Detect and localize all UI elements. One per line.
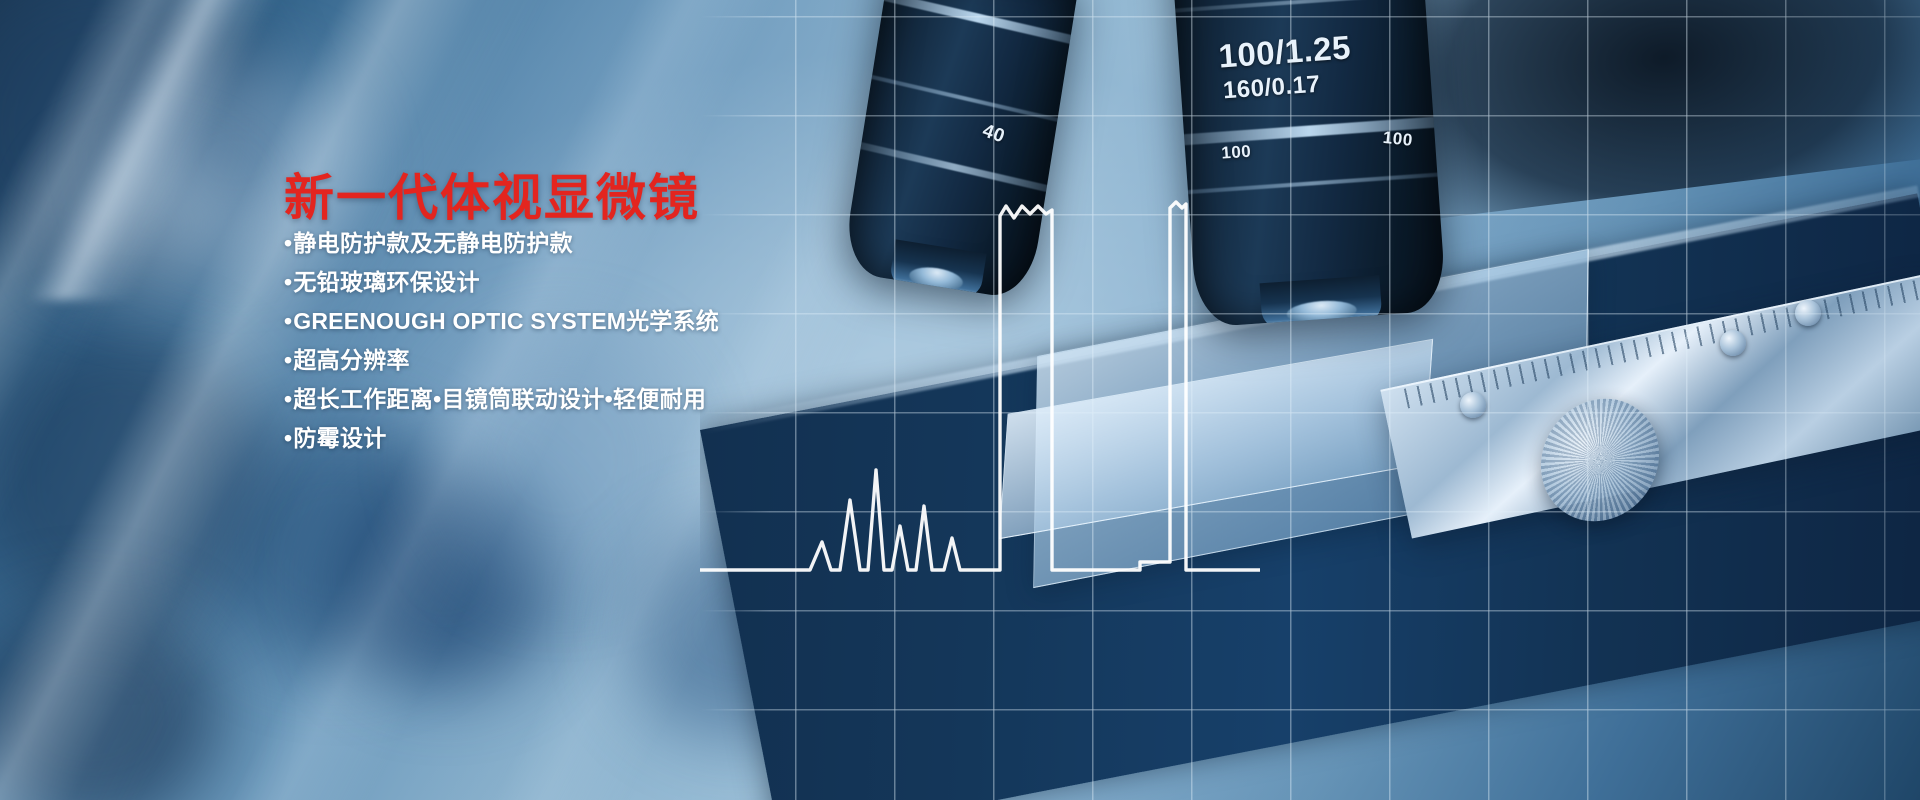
list-item-label: 超长工作距离•目镜筒联动设计•轻便耐用 [293, 386, 706, 412]
list-item: •静电防护款及无静电防护款 [284, 232, 754, 255]
page-title: 新一代体视显微镜 [284, 158, 700, 230]
microscope-photo: 40 100/1.25 160/0.17 100 100 [700, 0, 1920, 800]
bullet-dot-icon: • [284, 347, 292, 373]
objective-label-mag-left: 100 [1221, 142, 1252, 164]
list-item: •GREENOUGH OPTIC SYSTEM光学系统 [284, 310, 754, 333]
objective-label-mag-right: 100 [1382, 128, 1414, 151]
list-item-label: 静电防护款及无静电防护款 [293, 230, 573, 256]
list-item-label: 超高分辨率 [293, 347, 410, 373]
list-item-label: 防霉设计 [293, 425, 386, 451]
bullet-dot-icon: • [284, 308, 292, 334]
clip-screw-icon [1795, 300, 1821, 326]
bullet-dot-icon: • [284, 269, 292, 295]
list-item-label: GREENOUGH OPTIC SYSTEM光学系统 [293, 308, 719, 334]
feature-list: •静电防护款及无静电防护款 •无铅玻璃环保设计 •GREENOUGH OPTIC… [284, 232, 754, 466]
banner-content: 新一代体视显微镜 •静电防护款及无静电防护款 •无铅玻璃环保设计 •GREENO… [0, 0, 760, 800]
list-item: •无铅玻璃环保设计 [284, 271, 754, 294]
bullet-dot-icon: • [284, 425, 292, 451]
list-item: •超高分辨率 [284, 349, 754, 372]
objective-lens-left: 40 [841, 0, 1079, 301]
clip-screw-icon [1720, 330, 1746, 356]
bullet-dot-icon: • [284, 230, 292, 256]
bullet-dot-icon: • [284, 386, 292, 412]
list-item: •超长工作距离•目镜筒联动设计•轻便耐用 [284, 388, 754, 411]
objective-lens-right: 100/1.25 160/0.17 100 100 [1170, 0, 1447, 328]
list-item-label: 无铅玻璃环保设计 [293, 269, 479, 295]
hero-banner: 40 100/1.25 160/0.17 100 100 新一代体视显微镜 [0, 0, 1920, 800]
list-item: •防霉设计 [284, 427, 754, 450]
clip-screw-icon [1460, 392, 1486, 418]
